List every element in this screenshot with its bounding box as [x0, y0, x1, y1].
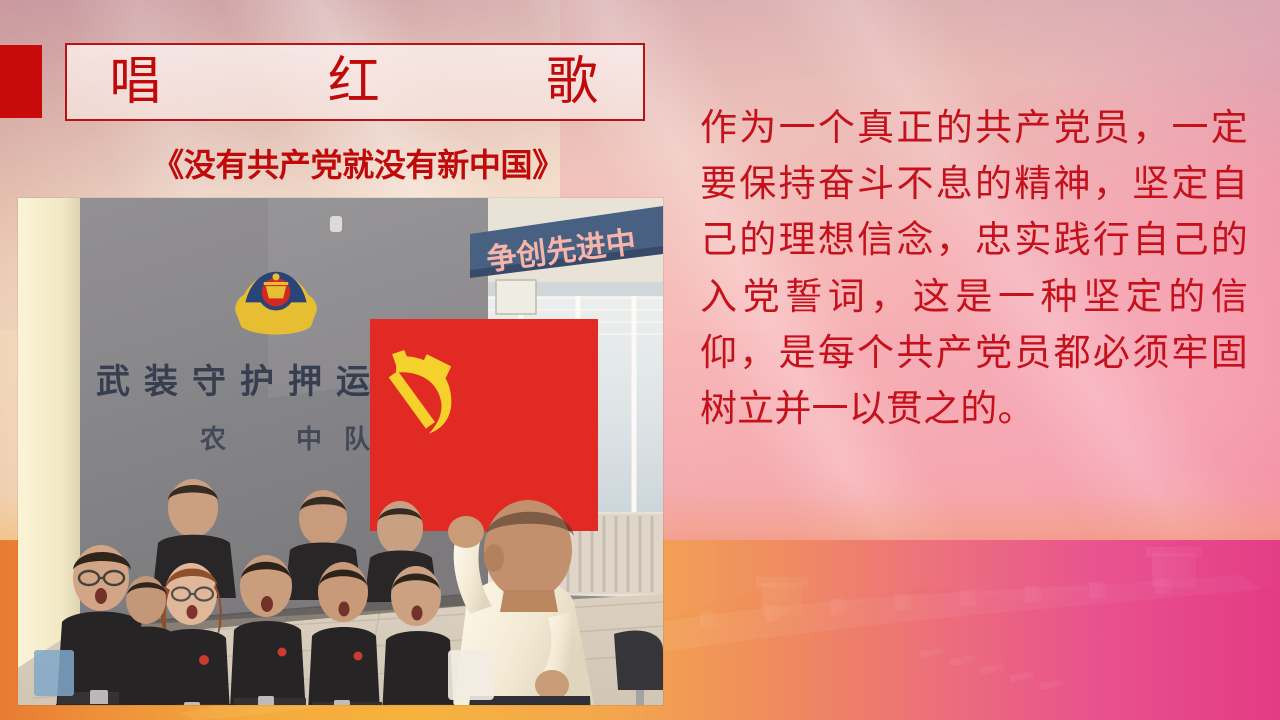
title-box: 唱 红 歌: [65, 43, 645, 121]
body-paragraph-block: 作为一个真正的共产党员，一定要保持奋斗不息的精神，坚定自己的理想信念，忠实践行自…: [700, 100, 1248, 437]
slide-root: 唱 红 歌 《没有共产党就没有新中国》: [0, 0, 1280, 720]
body-paragraph: 作为一个真正的共产党员，一定要保持奋斗不息的精神，坚定自己的理想信念，忠实践行自…: [700, 100, 1248, 437]
accent-red-block: [0, 45, 42, 118]
photo-illustration: 争创先进中: [18, 198, 663, 705]
choir-photograph: 争创先进中: [18, 198, 663, 705]
song-subtitle: 《没有共产党就没有新中国》: [68, 148, 648, 184]
page-title: 唱 红 歌: [109, 56, 600, 108]
